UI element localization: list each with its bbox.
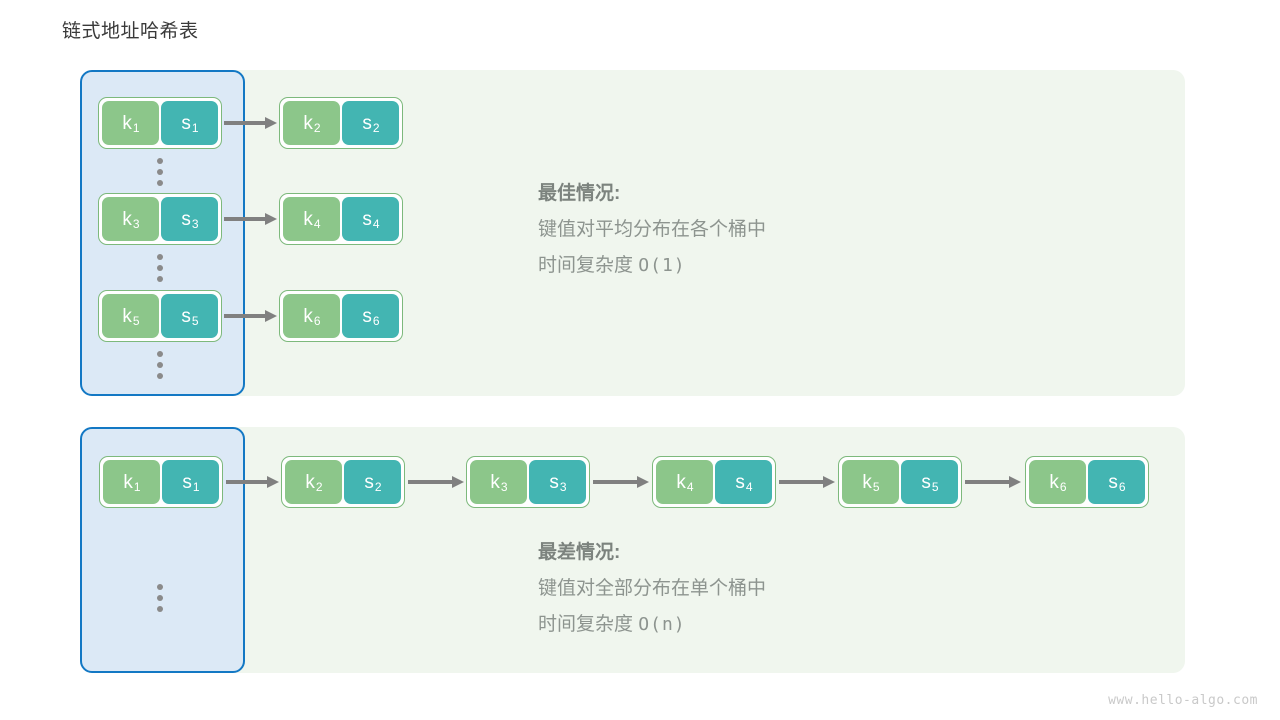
node-value-label: s [181,114,191,133]
page-title: 链式地址哈希表 [62,16,199,43]
worst-case-complexity-value: O(n) [638,614,685,635]
dot [157,158,163,164]
chain-node-k6-s6[interactable]: k6 s6 [1025,456,1149,508]
node-value-cell: s1 [161,101,218,145]
chain-arrow-3 [593,480,638,484]
dot [157,180,163,186]
node-key-cell: k6 [283,294,340,338]
chain-node-k4-s4[interactable]: k4 s4 [652,456,776,508]
node-key-subscript: 3 [501,481,508,493]
link-arrow-bucket2 [224,217,266,221]
node-key-label: k [122,210,132,229]
node-value-cell: s6 [342,294,399,338]
node-key-label: k [1049,473,1059,492]
node-value-subscript: 5 [932,481,939,493]
node-value-label: s [362,210,372,229]
node-key-label: k [123,473,133,492]
node-key-label: k [303,114,313,133]
worst-case-bucket-dots [157,584,163,612]
node-key-cell: k1 [103,460,160,504]
chain-arrow-1 [226,480,268,484]
node-value-subscript: 4 [373,218,380,230]
node-value-cell: s2 [344,460,401,504]
bucket-gap-dots-3 [157,351,163,379]
node-value-cell: s4 [715,460,772,504]
node-key-cell: k1 [102,101,159,145]
dot [157,362,163,368]
watermark: www.hello-algo.com [1108,693,1258,708]
node-value-cell: s6 [1088,460,1145,504]
node-value-label: s [735,473,745,492]
node-key-subscript: 2 [316,481,323,493]
best-case-complexity-value: O(1) [638,255,685,276]
node-k2-s2[interactable]: k2 s2 [279,97,403,149]
node-key-subscript: 1 [133,122,140,134]
node-value-label: s [362,114,372,133]
bucket-gap-dots-2 [157,254,163,282]
node-value-label: s [181,210,191,229]
node-key-cell: k5 [842,460,899,504]
node-value-cell: s5 [901,460,958,504]
node-value-subscript: 2 [375,481,382,493]
node-value-cell: s3 [529,460,586,504]
dot [157,265,163,271]
node-key-subscript: 6 [1060,481,1067,493]
node-key-subscript: 4 [687,481,694,493]
node-key-label: k [305,473,315,492]
dot [157,169,163,175]
worst-case-description: 键值对全部分布在单个桶中 [538,573,766,600]
node-k6-s6[interactable]: k6 s6 [279,290,403,342]
node-value-cell: s2 [342,101,399,145]
node-value-subscript: 1 [193,481,200,493]
chain-node-k5-s5[interactable]: k5 s5 [838,456,962,508]
node-value-subscript: 3 [560,481,567,493]
chain-node-k2-s2[interactable]: k2 s2 [281,456,405,508]
dot [157,584,163,590]
node-k1-s1[interactable]: k1 s1 [98,97,222,149]
dot [157,595,163,601]
node-key-label: k [303,307,313,326]
node-value-cell: s4 [342,197,399,241]
node-value-subscript: 6 [1119,481,1126,493]
node-value-subscript: 2 [373,122,380,134]
node-key-subscript: 1 [134,481,141,493]
node-value-label: s [549,473,559,492]
node-key-subscript: 3 [133,218,140,230]
node-k5-s5[interactable]: k5 s5 [98,290,222,342]
chain-arrow-5 [965,480,1010,484]
best-case-complexity-prefix: 时间复杂度 [538,255,633,276]
node-value-label: s [362,307,372,326]
node-key-label: k [122,114,132,133]
chain-node-k1-s1[interactable]: k1 s1 [99,456,223,508]
link-arrow-bucket3 [224,314,266,318]
node-key-label: k [490,473,500,492]
best-case-annotation: 最佳情况: 键值对平均分布在各个桶中 时间复杂度 O(1) [538,178,766,277]
node-key-subscript: 5 [133,315,140,327]
node-key-label: k [122,307,132,326]
dot [157,606,163,612]
worst-case-complexity-line: 时间复杂度 O(n) [538,609,766,636]
node-key-cell: k4 [656,460,713,504]
node-value-label: s [364,473,374,492]
node-value-label: s [182,473,192,492]
node-k3-s3[interactable]: k3 s3 [98,193,222,245]
node-key-cell: k2 [283,101,340,145]
best-case-heading: 最佳情况: [538,178,766,205]
bucket-gap-dots-1 [157,158,163,186]
node-value-label: s [1108,473,1118,492]
best-case-complexity-line: 时间复杂度 O(1) [538,250,766,277]
dot [157,351,163,357]
worst-case-heading: 最差情况: [538,537,766,564]
node-key-cell: k2 [285,460,342,504]
node-value-cell: s3 [161,197,218,241]
node-key-cell: k3 [102,197,159,241]
node-value-label: s [921,473,931,492]
node-key-cell: k6 [1029,460,1086,504]
dot [157,276,163,282]
node-value-label: s [181,307,191,326]
link-arrow-bucket1 [224,121,266,125]
node-key-subscript: 4 [314,218,321,230]
worst-case-complexity-prefix: 时间复杂度 [538,614,633,635]
node-key-subscript: 5 [873,481,880,493]
node-key-cell: k4 [283,197,340,241]
node-k4-s4[interactable]: k4 s4 [279,193,403,245]
node-key-cell: k5 [102,294,159,338]
node-key-subscript: 6 [314,315,321,327]
dot [157,254,163,260]
worst-case-annotation: 最差情况: 键值对全部分布在单个桶中 时间复杂度 O(n) [538,537,766,636]
node-key-label: k [676,473,686,492]
chain-node-k3-s3[interactable]: k3 s3 [466,456,590,508]
node-value-cell: s5 [161,294,218,338]
node-value-subscript: 5 [192,315,199,327]
dot [157,373,163,379]
node-key-label: k [303,210,313,229]
chain-arrow-2 [408,480,453,484]
best-case-description: 键值对平均分布在各个桶中 [538,214,766,241]
node-key-cell: k3 [470,460,527,504]
node-value-subscript: 1 [192,122,199,134]
node-key-label: k [862,473,872,492]
node-value-subscript: 6 [373,315,380,327]
node-value-subscript: 4 [746,481,753,493]
node-value-subscript: 3 [192,218,199,230]
chain-arrow-4 [779,480,824,484]
node-key-subscript: 2 [314,122,321,134]
node-value-cell: s1 [162,460,219,504]
